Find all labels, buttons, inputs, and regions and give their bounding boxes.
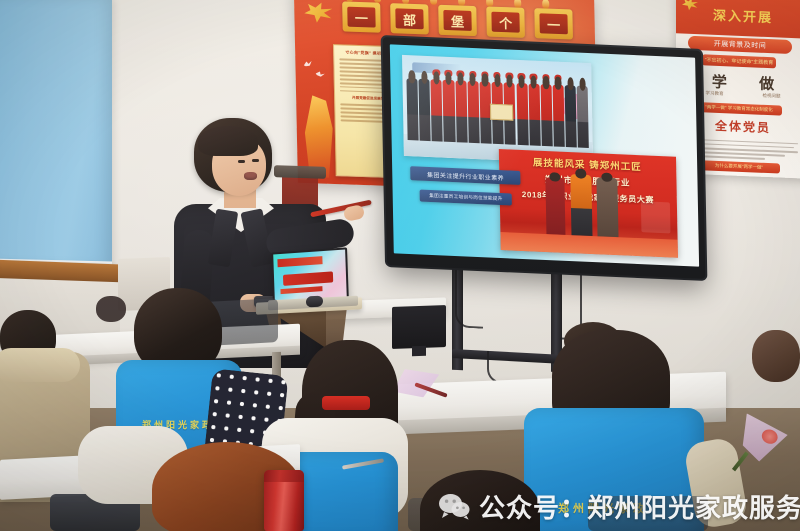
award-person-right: [596, 178, 618, 237]
award-person-left: [545, 177, 566, 234]
bouquet-stem: [732, 452, 749, 472]
slide-bullet-list: 集团关注提升行业职业素养 集团注重员工培训与岗位技能提升: [410, 166, 521, 206]
poster-tag-two: "两学一做" 学习教育常态化制度化: [696, 102, 782, 116]
slide-award-photo: 展技能风采 铸郑州工匠 郑州市家庭服务行业 2018年度职业技能家政服务员大赛: [499, 149, 678, 257]
back-monitor-stand: [412, 346, 426, 356]
poster-small-label-0: 学习教育: [706, 90, 724, 97]
dove-graphic: [303, 59, 334, 86]
award-person-center: [570, 175, 592, 236]
banner-char-3: 个: [486, 6, 525, 37]
front-chair-right[interactable]: [588, 496, 708, 531]
red-thermos-bottle: [264, 470, 304, 531]
banner-char-1: 部: [390, 3, 429, 34]
poster-tag-one: "不忘初心、牢记使命"主题教育: [702, 54, 776, 68]
poster-small-label-2: 检视问题: [763, 93, 781, 100]
poster-tag-three: 为什么要开展"两学一做": [698, 160, 780, 173]
slide-group-photo: [402, 55, 593, 164]
award-side-panel: [641, 202, 670, 233]
slide-bullet-1: 集团注重员工培训与岗位技能提升: [420, 190, 513, 206]
banner-char-2: 堡: [438, 5, 477, 36]
presenter-mouth: [244, 172, 257, 180]
award-banner-line1: 展技能风采 铸郑州工匠: [506, 154, 669, 175]
banner-char-0: 一: [342, 1, 381, 32]
computer-mouse[interactable]: [306, 296, 323, 308]
poster-ribbon: 开展背景及时间: [688, 36, 792, 54]
presentation-display[interactable]: 展技能风采 铸郑州工匠 郑州市家庭服务行业 2018年度职业技能家政服务员大赛 …: [383, 37, 706, 279]
audience-member-a-fur-collar: [0, 348, 80, 382]
slide-canvas: 展技能风采 铸郑州工匠 郑州市家庭服务行业 2018年度职业技能家政服务员大赛 …: [390, 44, 699, 266]
laptop-slide: [273, 250, 347, 303]
back-monitor: [392, 305, 446, 349]
classroom-training-photo: 一 部 堡 个 一 寸心向"党旗" 携初心与使命前行 开展党建促进发展党员岗位建…: [0, 0, 800, 531]
slide-photo-certificate: [490, 103, 513, 120]
audience-member-g-head: [752, 330, 800, 382]
audience-member-d-red-scarf: [322, 396, 370, 410]
presenter-fringe: [198, 126, 258, 156]
window-blind: [0, 0, 112, 269]
audience-member-back: [96, 296, 126, 322]
banner-char-4: 一: [534, 8, 573, 39]
tv-cable-left: [455, 267, 483, 328]
